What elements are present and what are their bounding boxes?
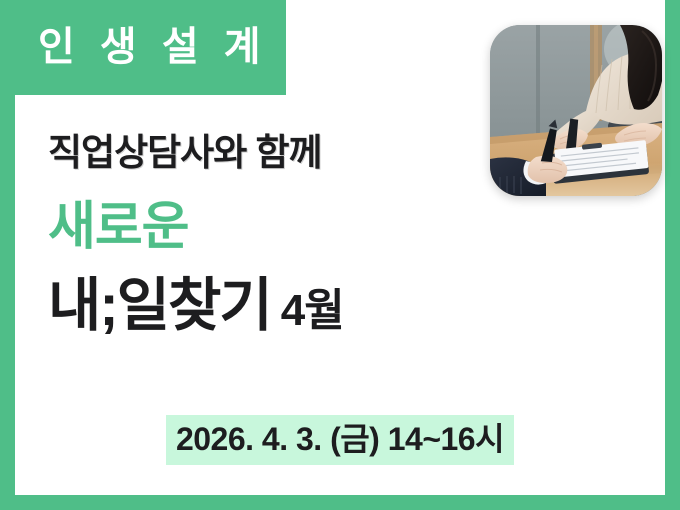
headline-block: 직업상담사와 함께 새로운 내;일찾기4월 xyxy=(48,126,648,347)
headline-program-title: 내;일찾기 xyxy=(48,273,271,338)
frame-bottom-strip xyxy=(0,495,680,510)
event-date-text: 2026. 4. 3. (금) 14~16시 xyxy=(166,415,514,465)
headline-line-3: 내;일찾기4월 xyxy=(48,270,648,347)
headline-line-2: 새로운 xyxy=(48,194,648,260)
poster-canvas: 인 생 설 계 xyxy=(0,0,680,510)
headline-line-1: 직업상담사와 함께 xyxy=(48,126,648,180)
event-date-row: 2026. 4. 3. (금) 14~16시 xyxy=(0,415,680,465)
headline-month: 4월 xyxy=(281,286,344,335)
banner-kicker-text: 인 생 설 계 xyxy=(38,18,268,76)
